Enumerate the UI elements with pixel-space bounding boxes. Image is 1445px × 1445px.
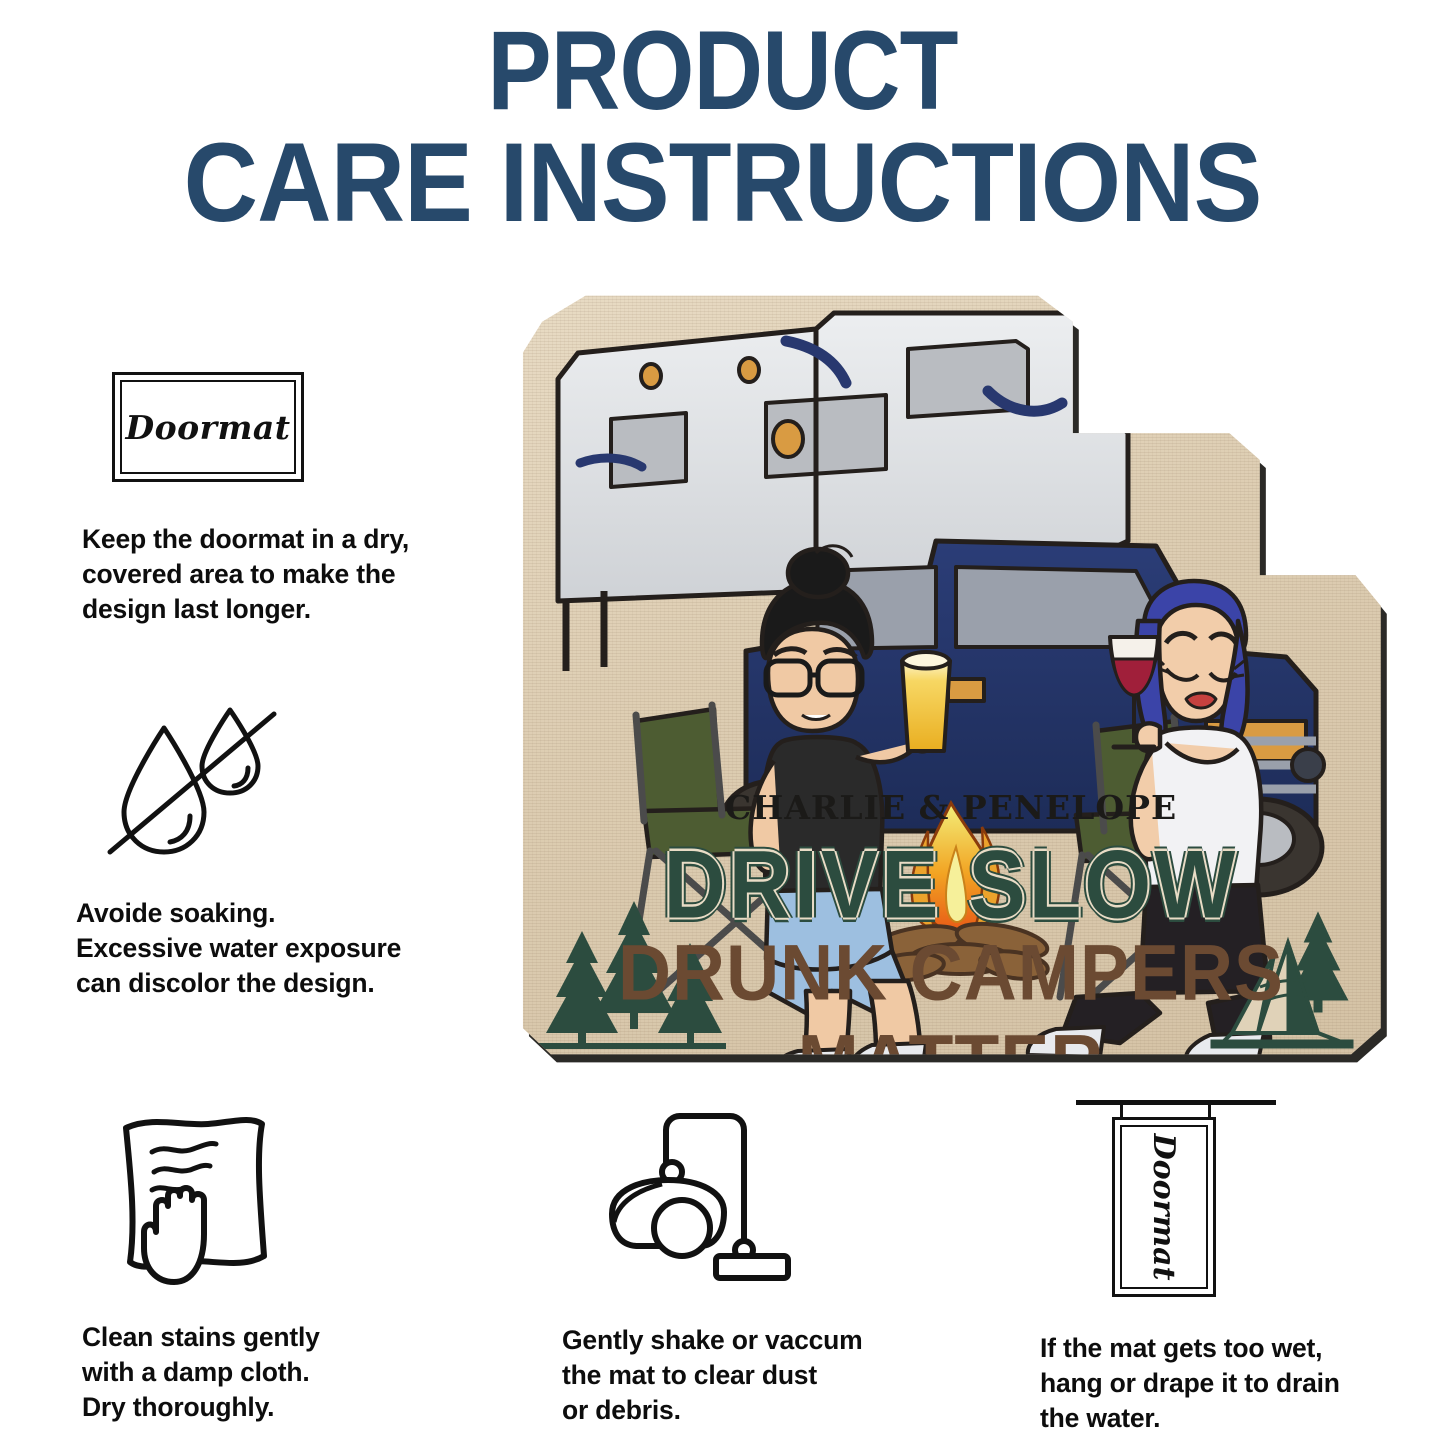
doormat-headline: DRIVE SLOW: [516, 830, 1386, 941]
care-item-hang-to-drain-text: If the mat gets too wet, hang or drape i…: [1040, 1331, 1440, 1437]
page-title: PRODUCT CARE INSTRUCTIONS: [0, 18, 1445, 237]
product-doormat-image: CHARLIE & PENELOPE DRIVE SLOW DRUNK CAMP…: [498, 283, 1428, 1083]
care-item-shake-vacuum-text: Gently shake or vaccum the mat to clear …: [562, 1323, 962, 1429]
doormat-icon-label: Doormat: [115, 375, 301, 479]
care-item-avoid-soaking-text: Avoide soaking. Excessive water exposure…: [76, 896, 482, 1002]
hanging-rail: [1076, 1100, 1276, 1105]
care-item-shake-vacuum: Gently shake or vaccum the mat to clear …: [562, 1106, 962, 1429]
care-item-avoid-soaking: Avoide soaking. Excessive water exposure…: [82, 700, 482, 1002]
no-soaking-water-drops-icon: [102, 700, 482, 870]
care-item-clean-stains: Clean stains gently with a damp cloth. D…: [82, 1110, 482, 1426]
beer-glass: [902, 652, 950, 751]
care-instructions-page: PRODUCT CARE INSTRUCTIONS Doormat Keep t…: [0, 0, 1445, 1445]
vacuum-cleaner-icon: [590, 1106, 962, 1301]
doormat-subline: DRUNK CAMPERS MATTER: [516, 928, 1386, 1059]
doormat-surface: CHARLIE & PENELOPE DRIVE SLOW DRUNK CAMP…: [516, 291, 1386, 1059]
doormat-names-line: CHARLIE & PENELOPE: [516, 788, 1386, 827]
doormat-box-icon: Doormat: [112, 372, 482, 482]
care-item-hang-to-drain: Doormat If the mat gets too wet, hang or…: [1040, 1100, 1440, 1437]
hand-wiping-cloth-icon: [104, 1110, 482, 1300]
care-item-clean-stains-text: Clean stains gently with a damp cloth. D…: [82, 1320, 482, 1426]
care-item-keep-dry-text: Keep the doormat in a dry, covered area …: [82, 522, 482, 628]
hanging-doormat-label: Doormat: [1077, 1158, 1251, 1256]
page-title-line2: CARE INSTRUCTIONS: [58, 130, 1387, 236]
care-item-keep-dry: Doormat Keep the doormat in a dry, cover…: [82, 372, 482, 628]
page-title-line1: PRODUCT: [101, 18, 1344, 124]
hanging-doormat-icon: Doormat: [1068, 1100, 1440, 1305]
